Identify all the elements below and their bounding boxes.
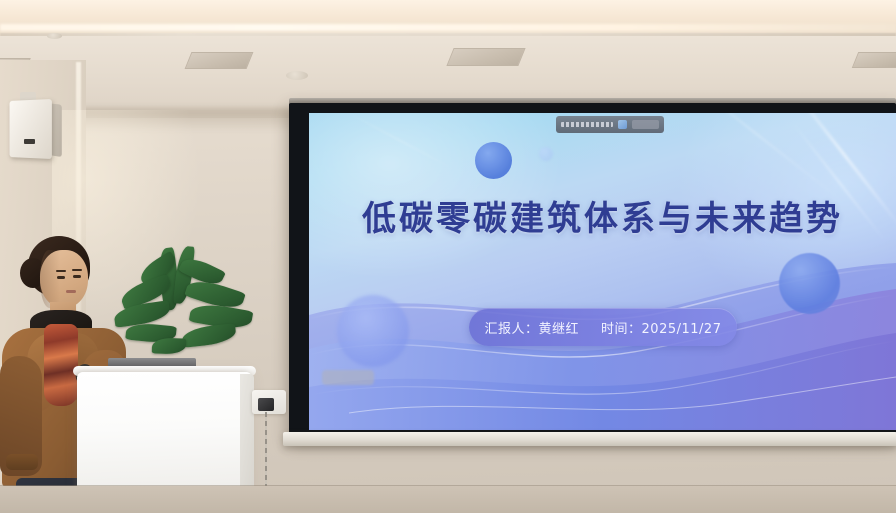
slide-decor-circle [475,142,512,179]
cove-light-strip [0,24,896,31]
slide-title: 低碳零碳建筑体系与未来趋势 [309,191,896,240]
projection-screen-display[interactable]: 低碳零碳建筑体系与未来趋势 汇报人：黄继红 时间：2025/11/27 [309,113,896,430]
wall-mounted-device[interactable] [258,398,274,411]
ceiling-downlight [286,71,308,80]
plant-leaf [152,337,187,354]
presenter-mouth [66,290,76,293]
toolbar-text-placeholder [561,122,613,127]
presenter-eyebrow [56,270,66,272]
presenter-scarf [44,324,78,406]
presenter-label: 汇报人：黄继红 [485,318,580,337]
presenter-eye [73,275,81,278]
toolbar-button[interactable] [632,120,659,129]
ceiling-downlight [47,33,62,39]
plant-leaf [181,323,237,348]
slide-overlay-chip[interactable] [322,370,374,385]
presenter-eyebrow [72,269,82,271]
presenter-eye [57,276,65,279]
slide-decor-circle [337,295,409,367]
presenter-sleeve-cuff [6,454,38,470]
slide-decor-circle [539,147,553,161]
screen-bottom-rail [283,432,896,446]
ceiling-vent-grille [852,52,896,68]
presenter-face-shadow [40,250,60,308]
floor [0,486,896,513]
ceiling-vent-grille [446,48,525,66]
screenshot-scene: 低碳零碳建筑体系与未来趋势 汇报人：黄继红 时间：2025/11/27 [0,0,896,513]
toolbar-app-icon[interactable] [618,120,627,129]
slide-decor-circle [779,253,840,314]
wall-speaker [10,99,52,159]
slide-meta-pill: 汇报人：黄继红 时间：2025/11/27 [469,308,737,346]
speaker-grille [24,139,35,144]
ceiling-vent-grille [185,52,254,69]
projection-overlay-toolbar[interactable] [556,116,664,133]
date-label: 时间：2025/11/27 [601,318,721,337]
